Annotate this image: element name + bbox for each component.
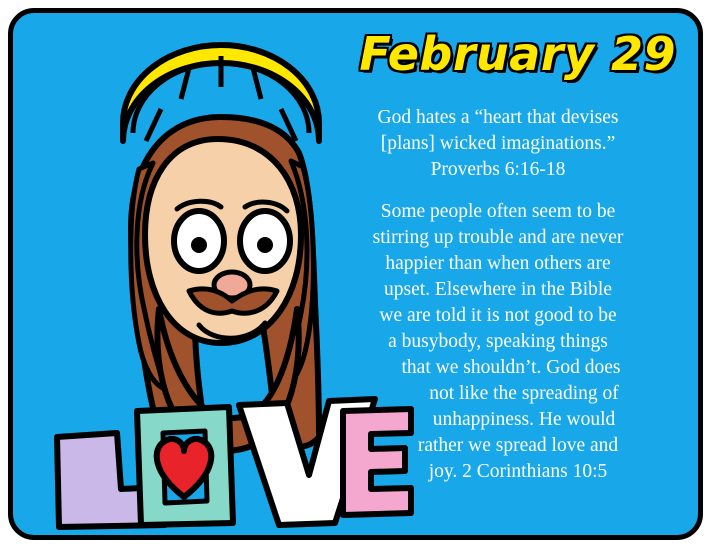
devotional-text: God hates a “heart that devises [plans] …: [333, 105, 663, 485]
devotional-line-2: stirring up trouble and are never: [333, 225, 663, 251]
beard: [157, 309, 298, 451]
devotional-line-4: upset. Elsewhere in the Bible: [333, 277, 663, 303]
letter-O: [137, 407, 233, 525]
right-eyebrow: [245, 202, 287, 211]
right-eye: [240, 211, 290, 271]
halo-icon: [123, 45, 319, 141]
devotional-paragraph: Some people often seem to be stirring up…: [333, 199, 663, 485]
devotional-line-3: happier than when others are: [333, 251, 663, 277]
devotional-line-11: joy. 2 Corinthians 10:5: [333, 459, 663, 485]
left-eyebrow: [177, 201, 221, 209]
devotional-line-1: Some people often seem to be: [333, 199, 663, 225]
smile: [199, 323, 265, 338]
scripture-paragraph: God hates a “heart that devises [plans] …: [333, 105, 663, 183]
scripture-line-1: God hates a “heart that devises: [333, 105, 663, 131]
letter-L: [57, 433, 165, 527]
left-pupil: [191, 237, 207, 253]
face-shape: [145, 139, 301, 343]
scripture-reference: Proverbs 6:16-18: [333, 157, 663, 183]
devotional-line-7: that we shouldn’t. God does: [333, 355, 663, 381]
devotional-card: February 29 God hates a “heart that devi…: [8, 8, 703, 540]
left-eye: [174, 211, 224, 271]
devotional-line-6: a busybody, speaking things: [333, 329, 663, 355]
devotional-line-8: not like the spreading of: [333, 381, 663, 407]
nose: [214, 272, 250, 298]
devotional-line-9: unhappiness. He would: [333, 407, 663, 433]
moustache: [189, 289, 277, 313]
devotional-line-10: rather we spread love and: [333, 433, 663, 459]
red-heart-icon: [157, 439, 212, 497]
hair-shape: [131, 117, 319, 447]
scripture-line-2: [plans] wicked imaginations.”: [333, 131, 663, 157]
screenshot-canvas: February 29 God hates a “heart that devi…: [0, 0, 711, 548]
page-title: February 29: [359, 27, 676, 81]
hair-strand-right: [281, 161, 313, 391]
hair-strand-left: [131, 163, 165, 389]
devotional-line-5: we are told it is not good to be: [333, 303, 663, 329]
right-pupil: [257, 237, 273, 253]
